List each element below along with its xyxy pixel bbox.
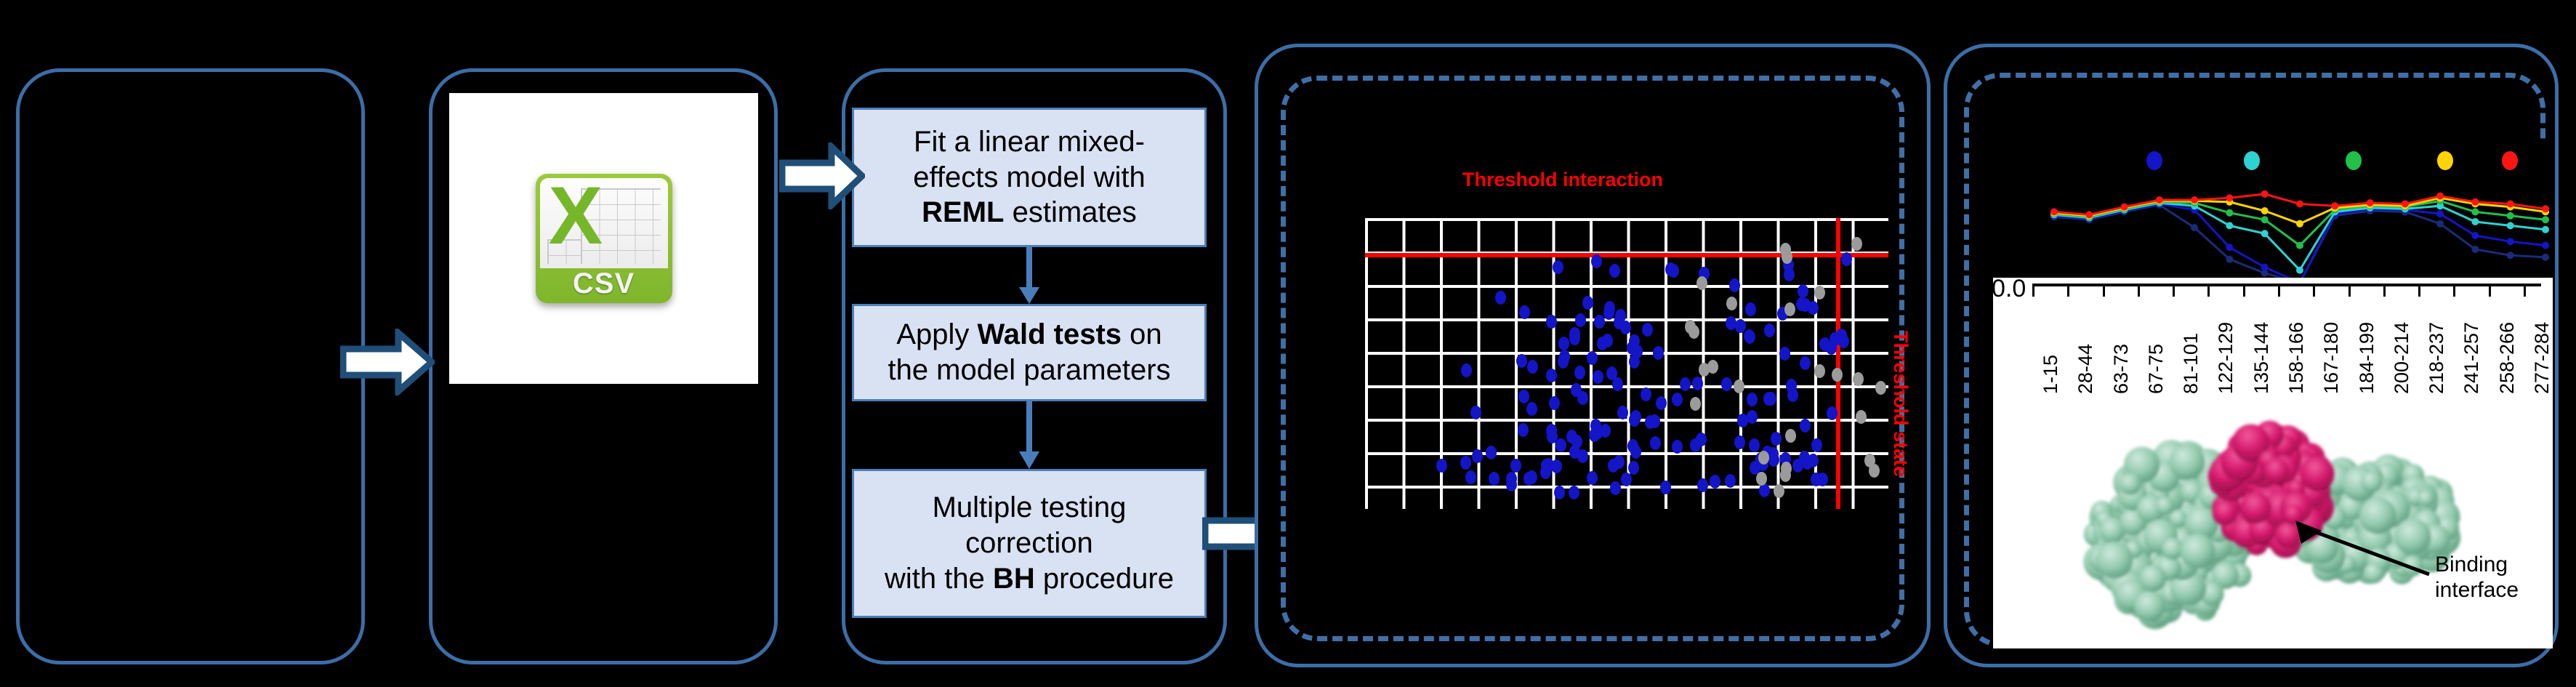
peptide-series-marker <box>2226 209 2233 217</box>
peptide-axis-tick <box>2313 286 2315 297</box>
volcano-point <box>1798 284 1808 298</box>
peptide-tick-label: 277-284 <box>2531 322 2553 394</box>
peptide-axis-tick <box>2489 286 2491 297</box>
volcano-point <box>1519 305 1530 319</box>
volcano-point <box>1575 313 1586 327</box>
peptide-axis-tick <box>2138 286 2140 297</box>
peptide-axis-tick <box>2243 286 2245 297</box>
connector-arrow-2 <box>1016 401 1042 470</box>
volcano-point <box>1609 264 1620 278</box>
peptide-series-marker <box>2471 246 2479 253</box>
multiple-testing-box: Multiple testingcorrectionwith the BH pr… <box>852 469 1207 618</box>
peptide-series-marker <box>2050 208 2058 215</box>
connector-arrow-1 <box>1016 247 1042 305</box>
peptide-tick-label: 135-144 <box>2250 322 2273 394</box>
volcano-point <box>1779 347 1790 361</box>
volcano-point <box>1627 439 1638 453</box>
protein-surface-blob <box>2240 492 2271 523</box>
peptide-series-marker <box>2507 201 2514 208</box>
volcano-plot <box>1365 218 1888 509</box>
peptide-series-marker <box>2261 216 2269 223</box>
multiple-testing-box-text: Multiple testingcorrectionwith the BH pr… <box>885 490 1174 596</box>
volcano-point <box>1641 387 1651 401</box>
protein-structure-image: Binding interface <box>1993 413 2553 648</box>
peptide-series-marker <box>2471 232 2479 239</box>
peptide-series-marker <box>2261 207 2269 214</box>
volcano-point <box>1460 456 1471 470</box>
volcano-point <box>1796 297 1807 311</box>
volcano-point <box>1553 260 1563 274</box>
volcano-point <box>1600 424 1611 438</box>
volcano-point <box>1526 470 1537 484</box>
volcano-point <box>1591 254 1602 268</box>
volcano-point <box>1594 315 1605 329</box>
volcano-point <box>1710 475 1720 489</box>
fit-model-box: Fit a linear mixed-effects model withREM… <box>852 108 1207 247</box>
peptide-series-marker <box>2085 211 2093 218</box>
volcano-point <box>1546 369 1557 382</box>
fit-model-box-text: Fit a linear mixed-effects model withREM… <box>913 124 1145 230</box>
peptide-series-marker <box>2367 199 2374 206</box>
protein-surface-blob <box>2134 591 2165 622</box>
volcano-point <box>1827 406 1838 420</box>
volcano-point <box>1734 379 1744 393</box>
volcano-point <box>1660 481 1671 494</box>
volcano-point <box>1436 459 1447 473</box>
volcano-point <box>1784 268 1795 281</box>
csv-sheet-face: X <box>540 178 668 268</box>
volcano-point <box>1680 377 1691 391</box>
peptide-series-marker <box>2436 220 2444 228</box>
volcano-point <box>1518 423 1529 437</box>
volcano-point <box>1656 396 1667 410</box>
volcano-point <box>1832 368 1843 382</box>
volcano-point <box>1745 302 1756 316</box>
peptide-axis-tick <box>2067 286 2069 297</box>
volcano-point <box>1574 366 1585 379</box>
peptide-axis-tick <box>2103 286 2105 297</box>
peptide-series-marker <box>2226 222 2233 229</box>
protein-surface-blob <box>2170 444 2205 480</box>
volcano-point <box>1569 486 1579 499</box>
volcano-point <box>1814 364 1825 378</box>
volcano-point <box>1495 291 1506 305</box>
volcano-point <box>1593 370 1603 384</box>
volcano-point <box>1781 462 1792 475</box>
peptide-series-marker <box>2261 264 2269 271</box>
volcano-point <box>1549 396 1560 410</box>
volcano-point <box>1597 337 1608 350</box>
volcano-point <box>1697 478 1708 492</box>
volcano-point <box>1780 243 1791 257</box>
peptide-series-marker <box>2507 252 2514 259</box>
peptide-series-marker <box>2121 204 2128 211</box>
peptide-axis-tick <box>2418 286 2420 297</box>
peptide-axis-tick <box>2383 286 2386 297</box>
peptide-series-marker <box>2296 201 2303 208</box>
protein-surface-blob <box>2156 497 2174 515</box>
wald-tests-box-text: Apply Wald tests onthe model parameters <box>887 317 1170 388</box>
protein-surface-blob <box>2180 534 2215 569</box>
volcano-point <box>1758 451 1769 465</box>
volcano-point <box>1725 474 1736 488</box>
volcano-point <box>1540 465 1551 479</box>
peptide-axis-tick <box>2348 286 2351 297</box>
volcano-point <box>1744 329 1755 343</box>
peptide-axis-tick <box>2207 286 2210 297</box>
peptide-series-marker <box>2542 254 2549 261</box>
peptide-series-marker <box>2226 194 2233 201</box>
volcano-point <box>1771 432 1782 446</box>
volcano-point <box>1621 473 1632 486</box>
peptide-tick-label: 63-73 <box>2110 344 2133 394</box>
volcano-threshold-interaction-label: Threshold interaction <box>1462 169 1663 191</box>
volcano-point <box>1785 429 1796 443</box>
volcano-point <box>1649 414 1660 428</box>
volcano-point <box>1571 383 1582 397</box>
volcano-point <box>1756 472 1767 486</box>
volcano-point <box>1629 355 1640 369</box>
protein-surface-blob <box>2359 497 2396 534</box>
volcano-point <box>1510 459 1521 473</box>
volcano-point <box>1734 435 1745 449</box>
protein-surface-blob <box>2213 500 2238 526</box>
peptide-tick-label: 200-214 <box>2391 322 2413 394</box>
volcano-point <box>1726 297 1737 310</box>
volcano-point <box>1650 436 1661 450</box>
csv-label: CSV <box>536 267 672 302</box>
volcano-point <box>1800 419 1811 433</box>
peptide-axis-tick <box>2524 286 2526 297</box>
volcano-point <box>1856 410 1867 424</box>
volcano-points-layer <box>1365 218 1888 509</box>
block-arrow-2 <box>779 142 865 209</box>
volcano-point <box>1526 402 1537 416</box>
protein-surface-blob <box>2283 505 2303 525</box>
csv-file-icon: X CSV <box>536 174 672 303</box>
volcano-point <box>1747 393 1758 406</box>
volcano-point <box>1802 456 1813 470</box>
volcano-point <box>1774 484 1784 498</box>
peptide-series-marker <box>2296 267 2303 274</box>
peptide-series-marker <box>2436 210 2444 217</box>
volcano-point <box>1735 319 1746 333</box>
protein-surface-blob <box>2263 458 2290 484</box>
peptide-series-marker <box>2261 230 2269 237</box>
volcano-point <box>1690 397 1701 411</box>
wald-tests-box: Apply Wald tests onthe model parameters <box>852 304 1207 401</box>
volcano-point <box>1764 324 1775 337</box>
volcano-point <box>1617 406 1628 419</box>
volcano-point <box>1875 381 1886 395</box>
volcano-point <box>1814 286 1825 300</box>
volcano-point <box>1603 306 1614 320</box>
volcano-point <box>1461 363 1472 377</box>
peptide-series-marker <box>2296 242 2303 249</box>
block-arrow-1 <box>340 329 435 395</box>
peptide-tick-label: 67-75 <box>2145 344 2168 394</box>
protein-surface-blob <box>2395 518 2431 555</box>
peptide-series-marker <box>2542 242 2549 249</box>
peptide-tick-label: 1-15 <box>2040 355 2062 394</box>
peptide-series-marker <box>2296 220 2303 228</box>
volcano-point <box>1569 332 1580 345</box>
volcano-point <box>1465 470 1476 484</box>
peptide-series-marker <box>2471 198 2479 206</box>
peptide-tick-label: 28-44 <box>2074 344 2097 394</box>
peptide-series-marker <box>2507 238 2514 245</box>
peptide-series-marker <box>2471 208 2479 215</box>
peptide-series-svg <box>2015 142 2553 288</box>
protein-surface-blob <box>2364 563 2384 583</box>
peptide-series-marker <box>2507 222 2514 229</box>
peptide-series-marker <box>2331 202 2338 209</box>
peptide-series-marker <box>2542 226 2549 233</box>
volcano-threshold-state-label: Threshold state <box>1889 331 1912 477</box>
volcano-point <box>1527 360 1538 374</box>
volcano-point <box>1629 334 1640 348</box>
volcano-point <box>1817 473 1828 486</box>
peptide-series-marker <box>2226 244 2233 251</box>
peptide-tick-label: 241-257 <box>2460 322 2483 394</box>
volcano-point <box>1642 323 1653 337</box>
peptide-series-marker <box>2261 190 2269 198</box>
volcano-point <box>1587 471 1598 485</box>
volcano-point <box>1668 264 1679 278</box>
volcano-point <box>1555 438 1566 452</box>
peptide-series-marker <box>2542 205 2549 212</box>
volcano-point <box>1672 440 1683 454</box>
volcano-point <box>1853 372 1864 386</box>
peptide-series-marker <box>2191 196 2198 204</box>
binding-interface-annotation: Binding interface <box>2435 553 2519 603</box>
volcano-point <box>1489 472 1500 486</box>
volcano-point <box>1546 315 1557 329</box>
peptide-series-marker <box>2436 193 2444 200</box>
volcano-point <box>1582 296 1593 310</box>
volcano-point <box>1628 461 1639 475</box>
volcano-point <box>1672 393 1683 406</box>
peptide-series-marker <box>2402 201 2409 208</box>
peptide-line-chart <box>2015 142 2553 288</box>
peptide-tick-label: 184-199 <box>2356 322 2378 394</box>
peptide-tick-label: 258-266 <box>2496 322 2519 394</box>
peptide-axis-tick <box>2032 286 2034 297</box>
protein-surface-blob <box>2120 473 2141 495</box>
protein-surface-svg <box>1993 413 2553 648</box>
peptide-series-marker <box>2471 218 2479 225</box>
volcano-point <box>1841 252 1852 266</box>
volcano-point <box>1470 406 1481 419</box>
volcano-point <box>1577 449 1588 463</box>
volcano-point <box>1554 486 1565 499</box>
volcano-point <box>1610 481 1621 495</box>
volcano-point <box>1747 410 1758 424</box>
figure-canvas: X CSV Fit a linear mixed-effects model w… <box>0 0 2576 687</box>
protein-surface-blob <box>2361 471 2383 493</box>
peptide-tick-label: 122-129 <box>2215 322 2237 394</box>
volcano-point <box>1864 454 1875 467</box>
volcano-point <box>1692 377 1703 390</box>
volcano-point <box>1784 302 1795 316</box>
peptide-axis-tick <box>2278 286 2280 297</box>
protein-surface-blob <box>2300 457 2334 491</box>
volcano-point <box>1800 356 1811 370</box>
volcano-point <box>1729 278 1740 292</box>
volcano-point <box>1620 321 1631 334</box>
peptide-y-axis-tick-0: 0.0 <box>1992 275 2026 303</box>
volcano-point <box>1559 350 1570 363</box>
volcano-point <box>1472 449 1483 463</box>
volcano-point <box>1614 455 1625 469</box>
volcano-point <box>1486 446 1497 459</box>
peptide-axis-tick <box>2453 286 2455 297</box>
volcano-point <box>1630 410 1641 424</box>
peptide-series-marker <box>2226 256 2233 263</box>
peptide-series-marker <box>2191 224 2198 231</box>
volcano-point <box>1721 377 1732 391</box>
peptide-series-marker <box>2156 196 2163 204</box>
peptide-axis-tick <box>2173 286 2175 297</box>
binding-interface-line2: interface <box>2435 578 2519 603</box>
volcano-point <box>1749 438 1760 452</box>
volcano-point <box>1768 453 1779 467</box>
protein-surface-blob <box>2418 490 2434 507</box>
volcano-point <box>1518 390 1529 403</box>
volcano-point <box>1516 354 1527 368</box>
csv-x-letter: X <box>549 175 603 257</box>
protein-surface-blob <box>2096 542 2133 579</box>
panel-data-source <box>16 68 365 664</box>
volcano-point <box>1571 435 1582 449</box>
volcano-point <box>1766 392 1776 406</box>
binding-interface-line1: Binding <box>2435 553 2519 578</box>
peptide-tick-label: 158-166 <box>2285 322 2308 394</box>
volcano-point <box>1587 351 1598 365</box>
peptide-tick-label: 81-101 <box>2180 333 2202 394</box>
csv-card: X CSV <box>449 93 758 384</box>
volcano-point <box>1707 360 1718 374</box>
protein-surface-blob <box>2139 565 2166 592</box>
volcano-point <box>1558 337 1569 350</box>
volcano-point <box>1696 276 1707 290</box>
volcano-point <box>1689 325 1699 339</box>
volcano-point <box>1696 433 1707 446</box>
volcano-point <box>1811 438 1822 452</box>
peptide-series-marker <box>2507 212 2514 220</box>
peptide-tick-label: 218-237 <box>2426 322 2448 394</box>
peptide-tick-label: 167-180 <box>2320 322 2343 394</box>
volcano-point <box>1653 346 1664 360</box>
peptide-series-marker <box>2542 216 2549 223</box>
volcano-point <box>1615 309 1626 323</box>
volcano-point <box>1851 237 1862 251</box>
